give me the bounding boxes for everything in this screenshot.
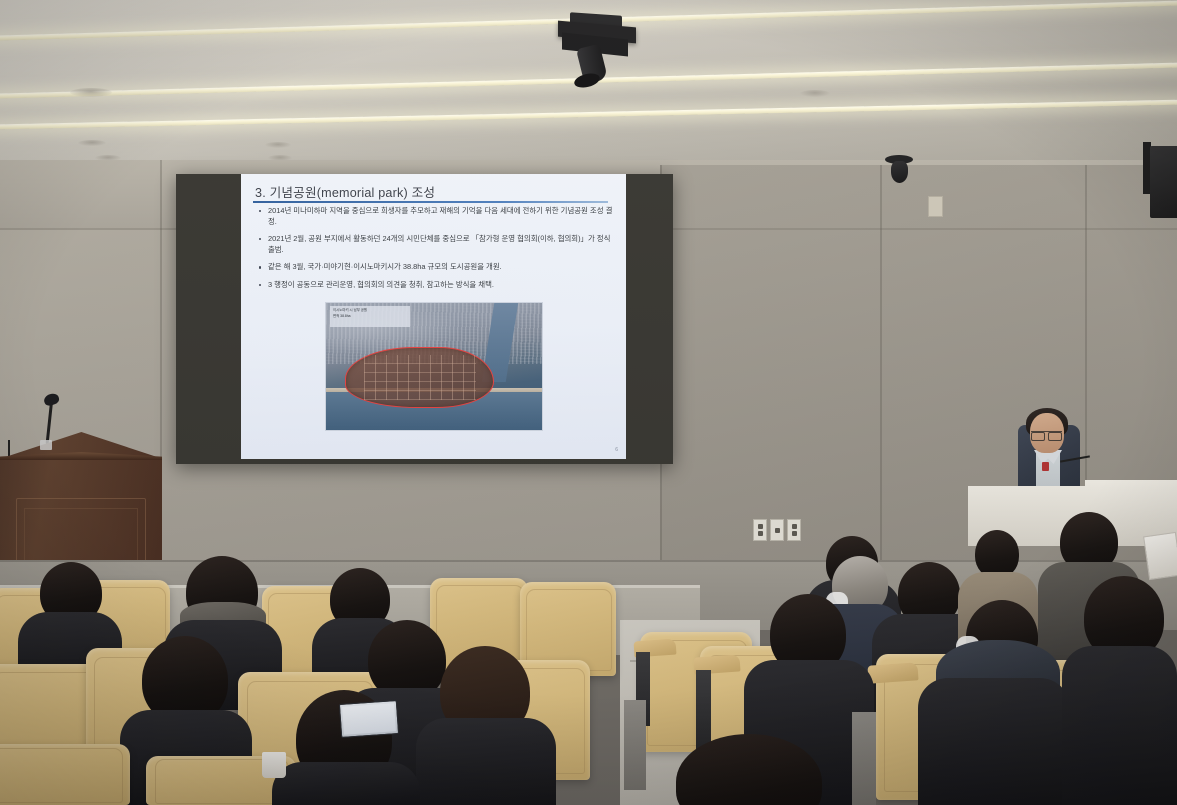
slide-bullet: 3 행정이 공동으로 관리운영, 협의회의 의견을 청취, 참고하는 방식을 채…: [257, 280, 613, 291]
wall-seam: [1085, 165, 1087, 495]
security-camera-dome: [891, 161, 908, 183]
auditorium-seat[interactable]: [0, 744, 130, 805]
photo-park-boundary: [345, 347, 494, 407]
seat-armrest: [867, 662, 918, 683]
wall-speaker-icon: [1150, 146, 1177, 218]
handout-paper: [1143, 532, 1177, 580]
glasses-icon: [1031, 431, 1062, 439]
seat-side-panel: [852, 712, 876, 805]
audience-laptop[interactable]: [339, 700, 399, 738]
paper-cup: [262, 752, 286, 778]
projection-screen: 3. 기념공원(memorial park) 조성 2014년 미나미하마 지역…: [241, 174, 626, 459]
microphone-base: [40, 440, 52, 450]
wall-outlet-plate[interactable]: [787, 519, 801, 541]
auditorium-scene: 3. 기념공원(memorial park) 조성 2014년 미나미하마 지역…: [0, 0, 1177, 805]
presenter-badge: [1042, 462, 1049, 471]
slide-bullet-list: 2014년 미나미하마 지역을 중심으로 희생자를 추모하고 재해의 기억을 다…: [257, 206, 613, 298]
slide-bullet: 2021년 2월, 공원 부지에서 활동하던 24개의 시민단체를 중심으로 「…: [257, 234, 613, 255]
slide-bullet: 같은 해 3월, 국가·미야기현·이시노마키시가 38.8ha 규모의 도시공원…: [257, 262, 613, 273]
wall-outlet-plate[interactable]: [753, 519, 767, 541]
recessed-light: [800, 90, 830, 97]
presentation-slide: 3. 기념공원(memorial park) 조성 2014년 미나미하마 지역…: [241, 174, 626, 459]
wall-outlet-plate[interactable]: [770, 519, 784, 541]
wall-outlet-group[interactable]: [753, 519, 801, 539]
photo-caption: 이시노마키 시 남부 공원 면적 38.8ha: [330, 306, 410, 327]
recessed-light: [78, 140, 106, 146]
slide-title: 3. 기념공원(memorial park) 조성: [255, 182, 616, 201]
recessed-light: [265, 142, 291, 148]
wall-plate: [928, 196, 943, 217]
slide-title-rule: [253, 201, 608, 203]
wall-seam: [880, 165, 882, 565]
projector-spotlight-icon: [548, 8, 644, 86]
photo-caption-sub: 면적 38.8ha: [333, 314, 407, 320]
slide-bullet: 2014년 미나미하마 지역을 중심으로 희생자를 추모하고 재해의 기억을 다…: [257, 206, 613, 227]
slide-page-number: 6: [615, 447, 618, 453]
slide-aerial-photo: 이시노마키 시 남부 공원 면적 38.8ha: [325, 302, 543, 431]
recessed-light: [70, 88, 112, 97]
seat-side-panel: [624, 700, 646, 790]
